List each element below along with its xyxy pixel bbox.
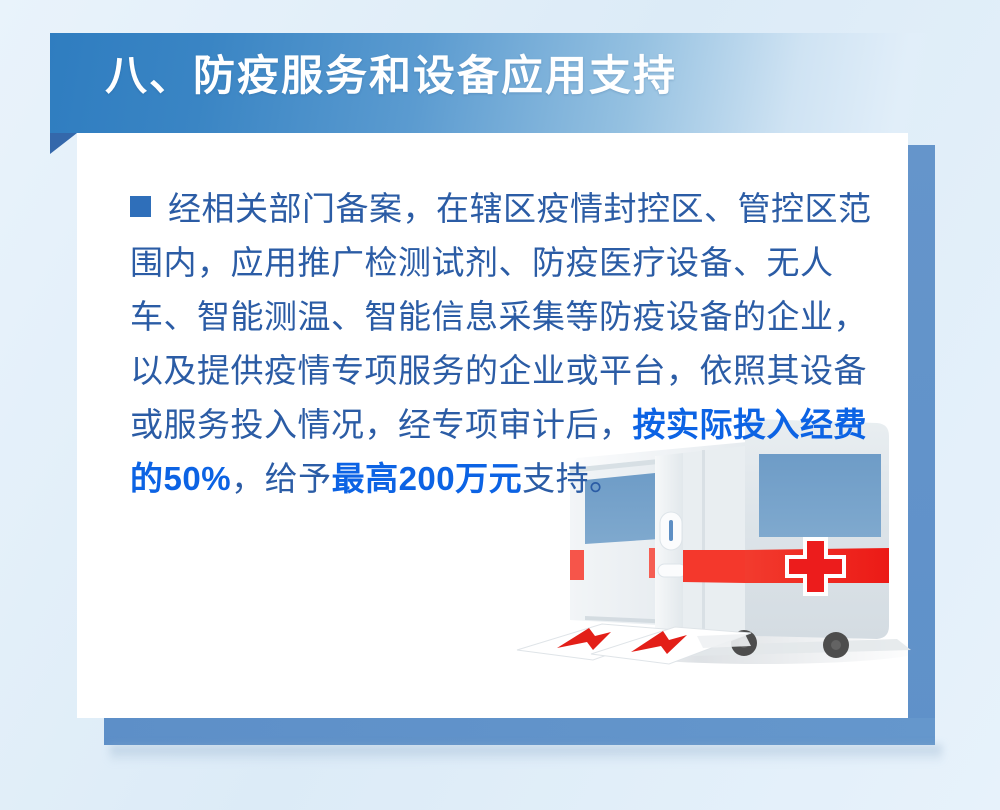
wheel-front-hub xyxy=(831,640,841,650)
infographic-page: 八、防疫服务和设备应用支持 xyxy=(0,0,1000,810)
policy-paragraph: 经相关部门备案，在辖区疫情封控区、管控区范围内，应用推广检测试剂、防疫医疗设备、… xyxy=(130,182,884,506)
card-frame-bottom-bar xyxy=(104,718,935,745)
content-body: 经相关部门备案，在辖区疫情封控区、管控区范围内，应用推广检测试剂、防疫医疗设备、… xyxy=(130,182,890,506)
banner-fold-corner-icon xyxy=(50,133,77,154)
text-run: 支持。 xyxy=(522,460,623,497)
page-title: 八、防疫服务和设备应用支持 xyxy=(105,50,677,102)
vehicle-side-stripe-mid xyxy=(683,550,745,583)
door-handle-indicator xyxy=(669,520,673,541)
door-handle-pill xyxy=(658,564,686,577)
text-run: ，给予 xyxy=(231,460,332,497)
vehicle-side-stripe-left xyxy=(570,550,584,580)
card-frame-shadow xyxy=(110,745,942,763)
emphasis-run: 最高200万元 xyxy=(332,460,523,497)
ramp-bridge xyxy=(697,634,751,648)
